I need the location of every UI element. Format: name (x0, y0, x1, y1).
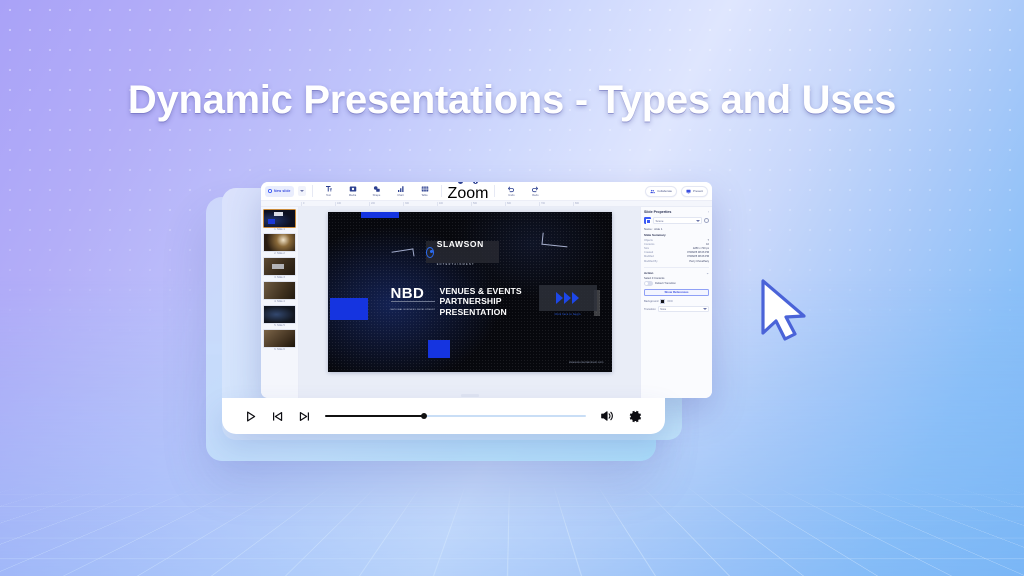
tool-table[interactable]: Table (415, 185, 435, 197)
toolbar-divider-3 (494, 185, 495, 197)
slide-thumbnail-caption: 5. Slide 5 (263, 324, 296, 328)
toolbar-divider (312, 185, 313, 197)
people-icon (650, 189, 655, 194)
show-references-button[interactable]: Show References (644, 289, 709, 296)
chevron-right-icon (556, 292, 563, 304)
properties-title: Slide Properties (644, 210, 671, 214)
ruler-tick: 300 (403, 202, 437, 206)
chevron-down-icon (300, 190, 304, 192)
ruler-tick: 0 (301, 202, 335, 206)
ruler-tick: 400 (437, 202, 471, 206)
default-transition-toggle-row[interactable]: Default Transition (644, 281, 709, 286)
redo-label: Redo (532, 194, 538, 197)
summary-row: Modified By Perry Choudhary (644, 260, 709, 264)
slide-thumbnail-6[interactable]: 6. Slide 6 (263, 329, 296, 352)
transition-row[interactable]: Transition None (644, 306, 709, 312)
tool-chart-label: Chart (397, 194, 404, 197)
tool-table-label: Table (421, 194, 427, 197)
slawson-mark-icon (426, 247, 434, 258)
play-button[interactable] (244, 410, 257, 423)
action-section-title: Action (644, 271, 653, 275)
plus-circle-icon (268, 189, 272, 193)
zoom-label: Zoom (448, 185, 489, 203)
new-slide-button[interactable]: New slide (265, 186, 294, 197)
color-swatch[interactable] (660, 299, 665, 304)
slide-thumbnail-caption: 4. Slide 4 (263, 300, 296, 304)
canvas-handle[interactable] (461, 394, 479, 397)
redo-icon (531, 185, 539, 193)
zoom-value: 100% (465, 182, 472, 183)
chart-icon (397, 185, 405, 193)
transition-value: None (660, 308, 666, 311)
secondary-logo[interactable]: NBD NATIONAL BUSINESS DEVELOPMENT (391, 286, 436, 318)
default-transition-label: Default Transition (655, 282, 676, 285)
screen-icon (686, 189, 691, 194)
table-icon (421, 185, 429, 193)
media-icon (349, 185, 357, 193)
chevron-down-icon[interactable]: ⌄ (706, 271, 709, 275)
ruler-tick: 800 (573, 202, 607, 206)
next-button[interactable] (298, 410, 311, 423)
brand-name: SLAWSON (437, 239, 484, 249)
panel-divider (644, 267, 709, 268)
redo-button[interactable]: Redo (525, 185, 545, 197)
object-select-value: Scene (656, 219, 664, 223)
summary-title: Slide Summary (644, 233, 709, 237)
background-perspective-grid (0, 485, 1024, 576)
slide-title-line-2: PARTNERSHIP (440, 296, 522, 306)
ruler-tick: 700 (539, 202, 573, 206)
summary-value: Perry Choudhary (689, 260, 709, 264)
active-slide[interactable]: SLAWSON ENTERTAINMENT NBD NATIONAL BUSIN… (328, 212, 612, 372)
background-hex: #000 (667, 300, 673, 303)
present-label: Present (693, 189, 703, 193)
slide-properties-panel: Slide Properties › Scene Name : slide 1 … (640, 207, 712, 398)
slide-thumbnail-5[interactable]: 5. Slide 5 (263, 305, 296, 328)
text-icon (325, 185, 333, 193)
ruler-tick: 200 (369, 202, 403, 206)
chevron-right-icon (564, 292, 571, 304)
properties-header: Slide Properties › (644, 210, 709, 214)
new-slide-label: New slide (274, 189, 291, 193)
tool-text[interactable]: Text (319, 185, 339, 197)
slide-title-line-1: VENUES & EVENTS (440, 286, 522, 296)
presentation-editor-window: New slide Text Media Shape (261, 182, 712, 398)
slide-thumbnail-caption: 2. Slide 2 (263, 252, 296, 256)
collaborate-label: Collaborate (657, 189, 672, 193)
transition-label: Transition (644, 308, 656, 311)
editor-toolbar: New slide Text Media Shape (261, 182, 712, 201)
transition-select[interactable]: None (658, 306, 709, 312)
secondary-logo-subtitle: NATIONAL BUSINESS DEVELOPMENT (391, 301, 436, 318)
slide-canvas-area[interactable]: SLAWSON ENTERTAINMENT NBD NATIONAL BUSIN… (299, 207, 640, 398)
slide-name-row: Name : slide 1 (644, 227, 709, 231)
decor-block-top (361, 212, 399, 218)
tool-chart[interactable]: Chart (391, 185, 411, 197)
chevron-right-icon (572, 292, 579, 304)
progress-knob[interactable] (421, 413, 427, 419)
chevron-down-icon (703, 308, 707, 310)
tool-shape[interactable]: Shape (367, 185, 387, 197)
ruler-tick: 100 (335, 202, 369, 206)
progress-fill (325, 415, 424, 417)
object-icon (644, 217, 651, 224)
decor-block-bottom (428, 340, 450, 358)
toolbar-divider-2 (441, 185, 442, 197)
action-section-header: Action ⌄ (644, 271, 709, 275)
object-select[interactable]: Scene (653, 217, 702, 224)
undo-icon (507, 185, 515, 193)
video-player-controls (222, 398, 665, 434)
slide-thumbnail-2[interactable]: 2. Slide 2 (263, 233, 296, 256)
mouse-pointer-icon (757, 278, 815, 344)
ruler-tick: 500 (471, 202, 505, 206)
page-title: Dynamic Presentations - Types and Uses (0, 78, 1024, 123)
tool-text-label: Text (326, 194, 331, 197)
toggle-switch[interactable] (644, 281, 653, 286)
slide-thumbnail-list[interactable]: 1. Slide 1 2. Slide 2 3. Slide 3 4. Slid… (261, 207, 299, 398)
slide-thumbnail-caption: 6. Slide 6 (263, 348, 296, 352)
ruler-tick: 600 (505, 202, 539, 206)
background-row[interactable]: Background #000 (644, 299, 709, 304)
editor-body: 1. Slide 1 2. Slide 2 3. Slide 3 4. Slid… (261, 207, 712, 398)
begin-cta-button[interactable] (539, 285, 597, 311)
chevron-right-icon[interactable]: › (708, 210, 709, 214)
slide-thumbnail-1[interactable]: 1. Slide 1 (263, 209, 296, 232)
progress-slider[interactable] (325, 415, 586, 417)
collaborate-button[interactable]: Collaborate (645, 186, 677, 197)
slide-thumbnail-4[interactable]: 4. Slide 4 (263, 281, 296, 304)
slide-thumbnail-caption: 1. Slide 1 (263, 228, 296, 232)
slide-footer: slawsonentertainment.com (569, 361, 604, 364)
slide-title[interactable]: VENUES & EVENTS PARTNERSHIP PRESENTATION (440, 286, 522, 317)
secondary-logo-text: NBD (391, 285, 425, 302)
settings-button[interactable] (628, 409, 643, 424)
background-label: Background (644, 300, 658, 303)
slide-thumbnail-3[interactable]: 3. Slide 3 (263, 257, 296, 280)
new-slide-dropdown-button[interactable] (298, 186, 306, 196)
undo-button[interactable]: Undo (501, 185, 521, 197)
object-selector-row[interactable]: Scene (644, 217, 709, 224)
zoom-control[interactable]: 100% Zoom (448, 182, 489, 203)
summary-key: Modified By (644, 260, 658, 264)
slide-title-line-3: PRESENTATION (440, 307, 522, 317)
brand-subtitle: ENTERTAINMENT (437, 263, 475, 266)
brand-logo[interactable]: SLAWSON ENTERTAINMENT (426, 241, 499, 263)
present-button[interactable]: Present (681, 186, 708, 197)
gear-icon[interactable] (704, 218, 709, 223)
tool-media[interactable]: Media (343, 185, 363, 197)
volume-button[interactable] (600, 409, 614, 423)
undo-label: Undo (508, 194, 514, 197)
begin-cta-label: Click here to begin (539, 313, 597, 316)
slide-thumbnail-caption: 3. Slide 3 (263, 276, 296, 280)
tool-media-label: Media (349, 194, 356, 197)
tool-shape-label: Shape (373, 194, 381, 197)
chevron-down-icon (696, 220, 700, 222)
shape-icon (373, 185, 381, 193)
previous-button[interactable] (271, 410, 284, 423)
decor-block-left (330, 298, 368, 320)
